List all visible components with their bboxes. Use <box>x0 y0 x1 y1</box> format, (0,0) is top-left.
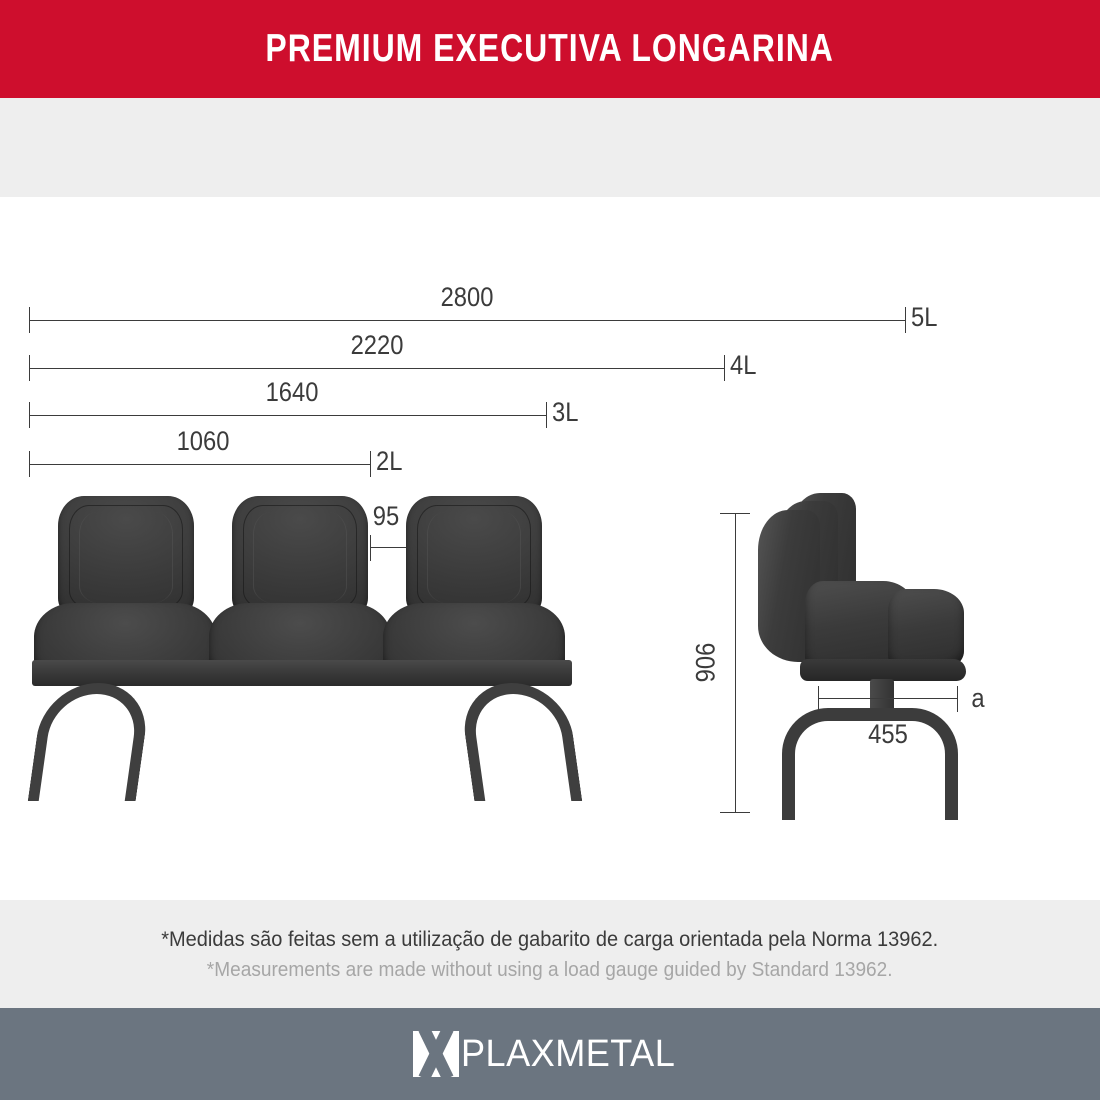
header-band: PREMIUM EXECUTIVA LONGARINA <box>0 0 1100 98</box>
dimension-tag: a <box>971 683 984 714</box>
note-english: *Measurements are made without using a l… <box>207 958 893 982</box>
subheader-band <box>0 98 1100 197</box>
note-portuguese: *Medidas são feitas sem a utilização de … <box>162 927 939 952</box>
dimension-rule <box>818 698 958 699</box>
support-beam <box>32 660 572 686</box>
dimension-rule <box>370 547 410 548</box>
footer-band: PLAXMETAL <box>0 1008 1100 1100</box>
dimension-rule <box>29 368 724 369</box>
dimension-value: 455 <box>868 719 908 750</box>
dimension-tag: 4L <box>730 350 756 381</box>
dimension-tick-right <box>724 355 725 381</box>
dimension-tick-right <box>546 402 547 428</box>
dimension-rule <box>29 464 370 465</box>
dimension-tick-left <box>29 355 30 381</box>
dimension-rule <box>29 320 905 321</box>
dimension-tick-right <box>370 451 371 477</box>
dimension-tag: 3L <box>552 397 578 428</box>
leg-left <box>28 683 153 801</box>
x-mark-icon <box>413 1031 459 1077</box>
dimension-value: 1640 <box>266 377 319 408</box>
dimension-tick-right <box>957 686 958 712</box>
dimension-value: 2220 <box>351 330 404 361</box>
dimension-tag: 2L <box>376 446 402 477</box>
leg-right <box>458 683 583 801</box>
dimension-tick-left <box>818 686 819 712</box>
dimension-value: 95 <box>373 501 399 532</box>
dimension-tick-left <box>29 402 30 428</box>
dimension-tick-bottom <box>720 812 750 813</box>
dimension-value: 1060 <box>177 426 230 457</box>
notes-band: *Medidas são feitas sem a utilização de … <box>0 900 1100 1008</box>
dimension-tick-left <box>29 451 30 477</box>
dimension-rule <box>735 513 736 812</box>
dimension-tick-top <box>720 513 750 514</box>
dimension-tick-left <box>370 535 371 561</box>
dimension-tag: 5L <box>911 302 937 333</box>
technical-drawing-canvas: 2800 5L 2220 4L 1640 3L 1060 2L 95 <box>0 197 1100 900</box>
dimension-tick-left <box>29 307 30 333</box>
page-title: PREMIUM EXECUTIVA LONGARINA <box>266 27 834 71</box>
dimension-value: 2800 <box>441 282 494 313</box>
dimension-rule <box>29 415 546 416</box>
seat-shell <box>800 659 966 681</box>
dimension-value: 906 <box>691 636 722 689</box>
dimension-tick-right <box>905 307 906 333</box>
brand-name: PLAXMETAL <box>461 1033 675 1076</box>
brand-logo: PLAXMETAL <box>413 1031 687 1077</box>
